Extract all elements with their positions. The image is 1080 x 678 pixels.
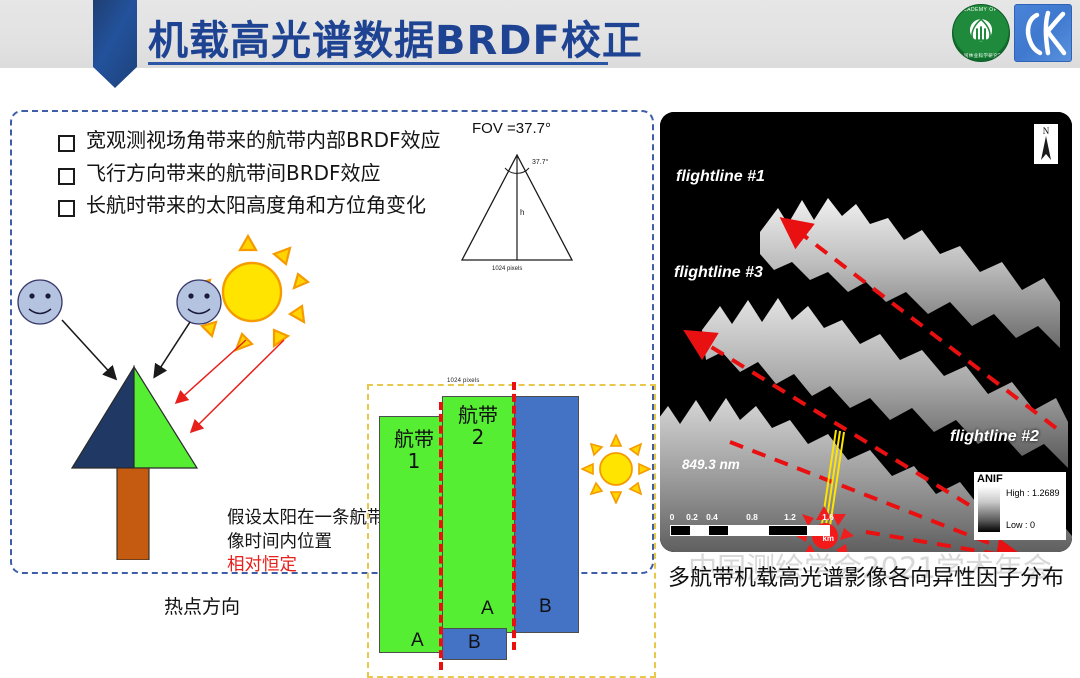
observer-icon-left (18, 280, 62, 324)
anif-image-panel: flightline #1 flightline #3 flightline #… (660, 112, 1072, 552)
scale-tick: 0.2 (686, 512, 698, 522)
view-arrow-left (62, 320, 115, 378)
title-underline (148, 62, 608, 65)
square-bullet-icon (58, 168, 75, 185)
flightline-3-label: flightline #3 (674, 264, 763, 282)
forestry-tree-icon (966, 17, 996, 47)
svg-text:37.7°: 37.7° (532, 158, 549, 166)
scale-tick: 1.2 (784, 512, 796, 522)
strip-1-label-line1: 航带 (394, 427, 434, 451)
left-content-panel: 宽观测视场角带来的航带内部BRDF效应 飞行方向带来的航带间BRDF效应 长航时… (10, 110, 654, 574)
legend-title: ANIF (977, 473, 1003, 485)
strip-1-label: 航带 1 (383, 428, 445, 472)
strip-1-region-a-label: A (411, 630, 424, 652)
strip-2-label: 航带 2 (447, 404, 509, 448)
bullet-label: 宽观测视场角带来的航带内部BRDF效应 (86, 128, 441, 154)
bullet-label: 长航时带来的太阳高度角和方位角变化 (86, 193, 426, 219)
strip-1-region-b-label: B (468, 632, 481, 654)
svg-text:N: N (1043, 126, 1050, 136)
anif-legend: ANIF High : 1.2689 Low : 0 (974, 472, 1066, 540)
square-bullet-icon (58, 200, 75, 217)
strip-2-label-line2: 2 (472, 425, 485, 449)
fov-label: FOV =37.7° (472, 120, 551, 137)
legend-color-ramp (978, 486, 1000, 532)
svg-text:1024 pixels: 1024 pixels (492, 266, 522, 272)
tree-graphic (72, 367, 197, 560)
logo-ring-bottom-text: 中国林业科学研究院 (959, 54, 1003, 58)
flightline-2-label: flightline #2 (950, 428, 1039, 446)
strip-sun-icon (581, 434, 651, 504)
chinese-academy-of-forestry-logo: CHINESE ACADEMY OF FORESTRY 中国林业科学研究院 (952, 4, 1010, 62)
square-bullet-icon (58, 135, 75, 152)
solar-arrow-1 (177, 340, 246, 402)
fov-diagram: FOV =37.7° 37.7° h 1024 pixels (452, 120, 642, 275)
scale-bar-unit: km (822, 534, 834, 543)
flight-strip-diagram: 1024 pixels 航带 1 航带 2 A B A (367, 384, 656, 678)
legend-high-label: High : 1.2689 (1006, 488, 1060, 498)
view-arrow-right (155, 322, 190, 376)
strip-2-label-line1: 航带 (458, 403, 498, 427)
wavelength-label: 849.3 nm (682, 457, 740, 472)
svg-text:h: h (520, 208, 524, 217)
solar-arrow-2 (192, 340, 284, 431)
observer-icon-right (177, 280, 221, 324)
strip-pixels-label: 1024 pixels (447, 378, 480, 384)
strip-2-region-b-label: B (539, 596, 552, 618)
scale-bar-ticks: 0 0.2 0.4 0.8 1.2 1.6 (670, 512, 830, 524)
legend-low-label: Low : 0 (1006, 520, 1035, 530)
scale-tick: 0.8 (746, 512, 758, 522)
institute-logo (1014, 4, 1072, 62)
slide-root: 机载高光谱数据BRDF校正 CHINESE ACADEMY OF FORESTR… (0, 0, 1080, 607)
scale-tick: 1.6 (822, 512, 834, 522)
scale-bar-segments (670, 525, 830, 536)
assumption-line-1: 假设太阳在一条航 (227, 508, 367, 528)
logo-ring-top-text: CHINESE ACADEMY OF FORESTRY (952, 8, 1010, 13)
assumption-emphasis: 相对恒定 (227, 555, 297, 575)
figure-caption: 多航带机载高光谱影像各向异性因子分布 (652, 560, 1080, 592)
strip-1-label-line2: 1 (408, 449, 421, 473)
scale-tick: 0 (670, 512, 675, 522)
header-ribbon-icon (93, 0, 137, 88)
scale-tick: 0.4 (706, 512, 718, 522)
scale-bar: 0 0.2 0.4 0.8 1.2 1.6 km (670, 512, 830, 536)
bullet-label: 飞行方向带来的航带间BRDF效应 (86, 161, 381, 187)
hotspot-direction-label: 热点方向 (164, 592, 240, 619)
strip-2-region-a-label: A (481, 598, 494, 620)
fov-triangle-graphic: 37.7° h 1024 pixels (452, 120, 642, 275)
strip-boundary-dash-2 (512, 382, 516, 650)
north-arrow-icon: N (1034, 124, 1058, 164)
north-arrow-glyph: N (1034, 124, 1058, 164)
institute-logo-glyph (1015, 5, 1071, 61)
flightline-1-label: flightline #1 (676, 168, 765, 186)
page-title: 机载高光谱数据BRDF校正 (148, 8, 643, 66)
